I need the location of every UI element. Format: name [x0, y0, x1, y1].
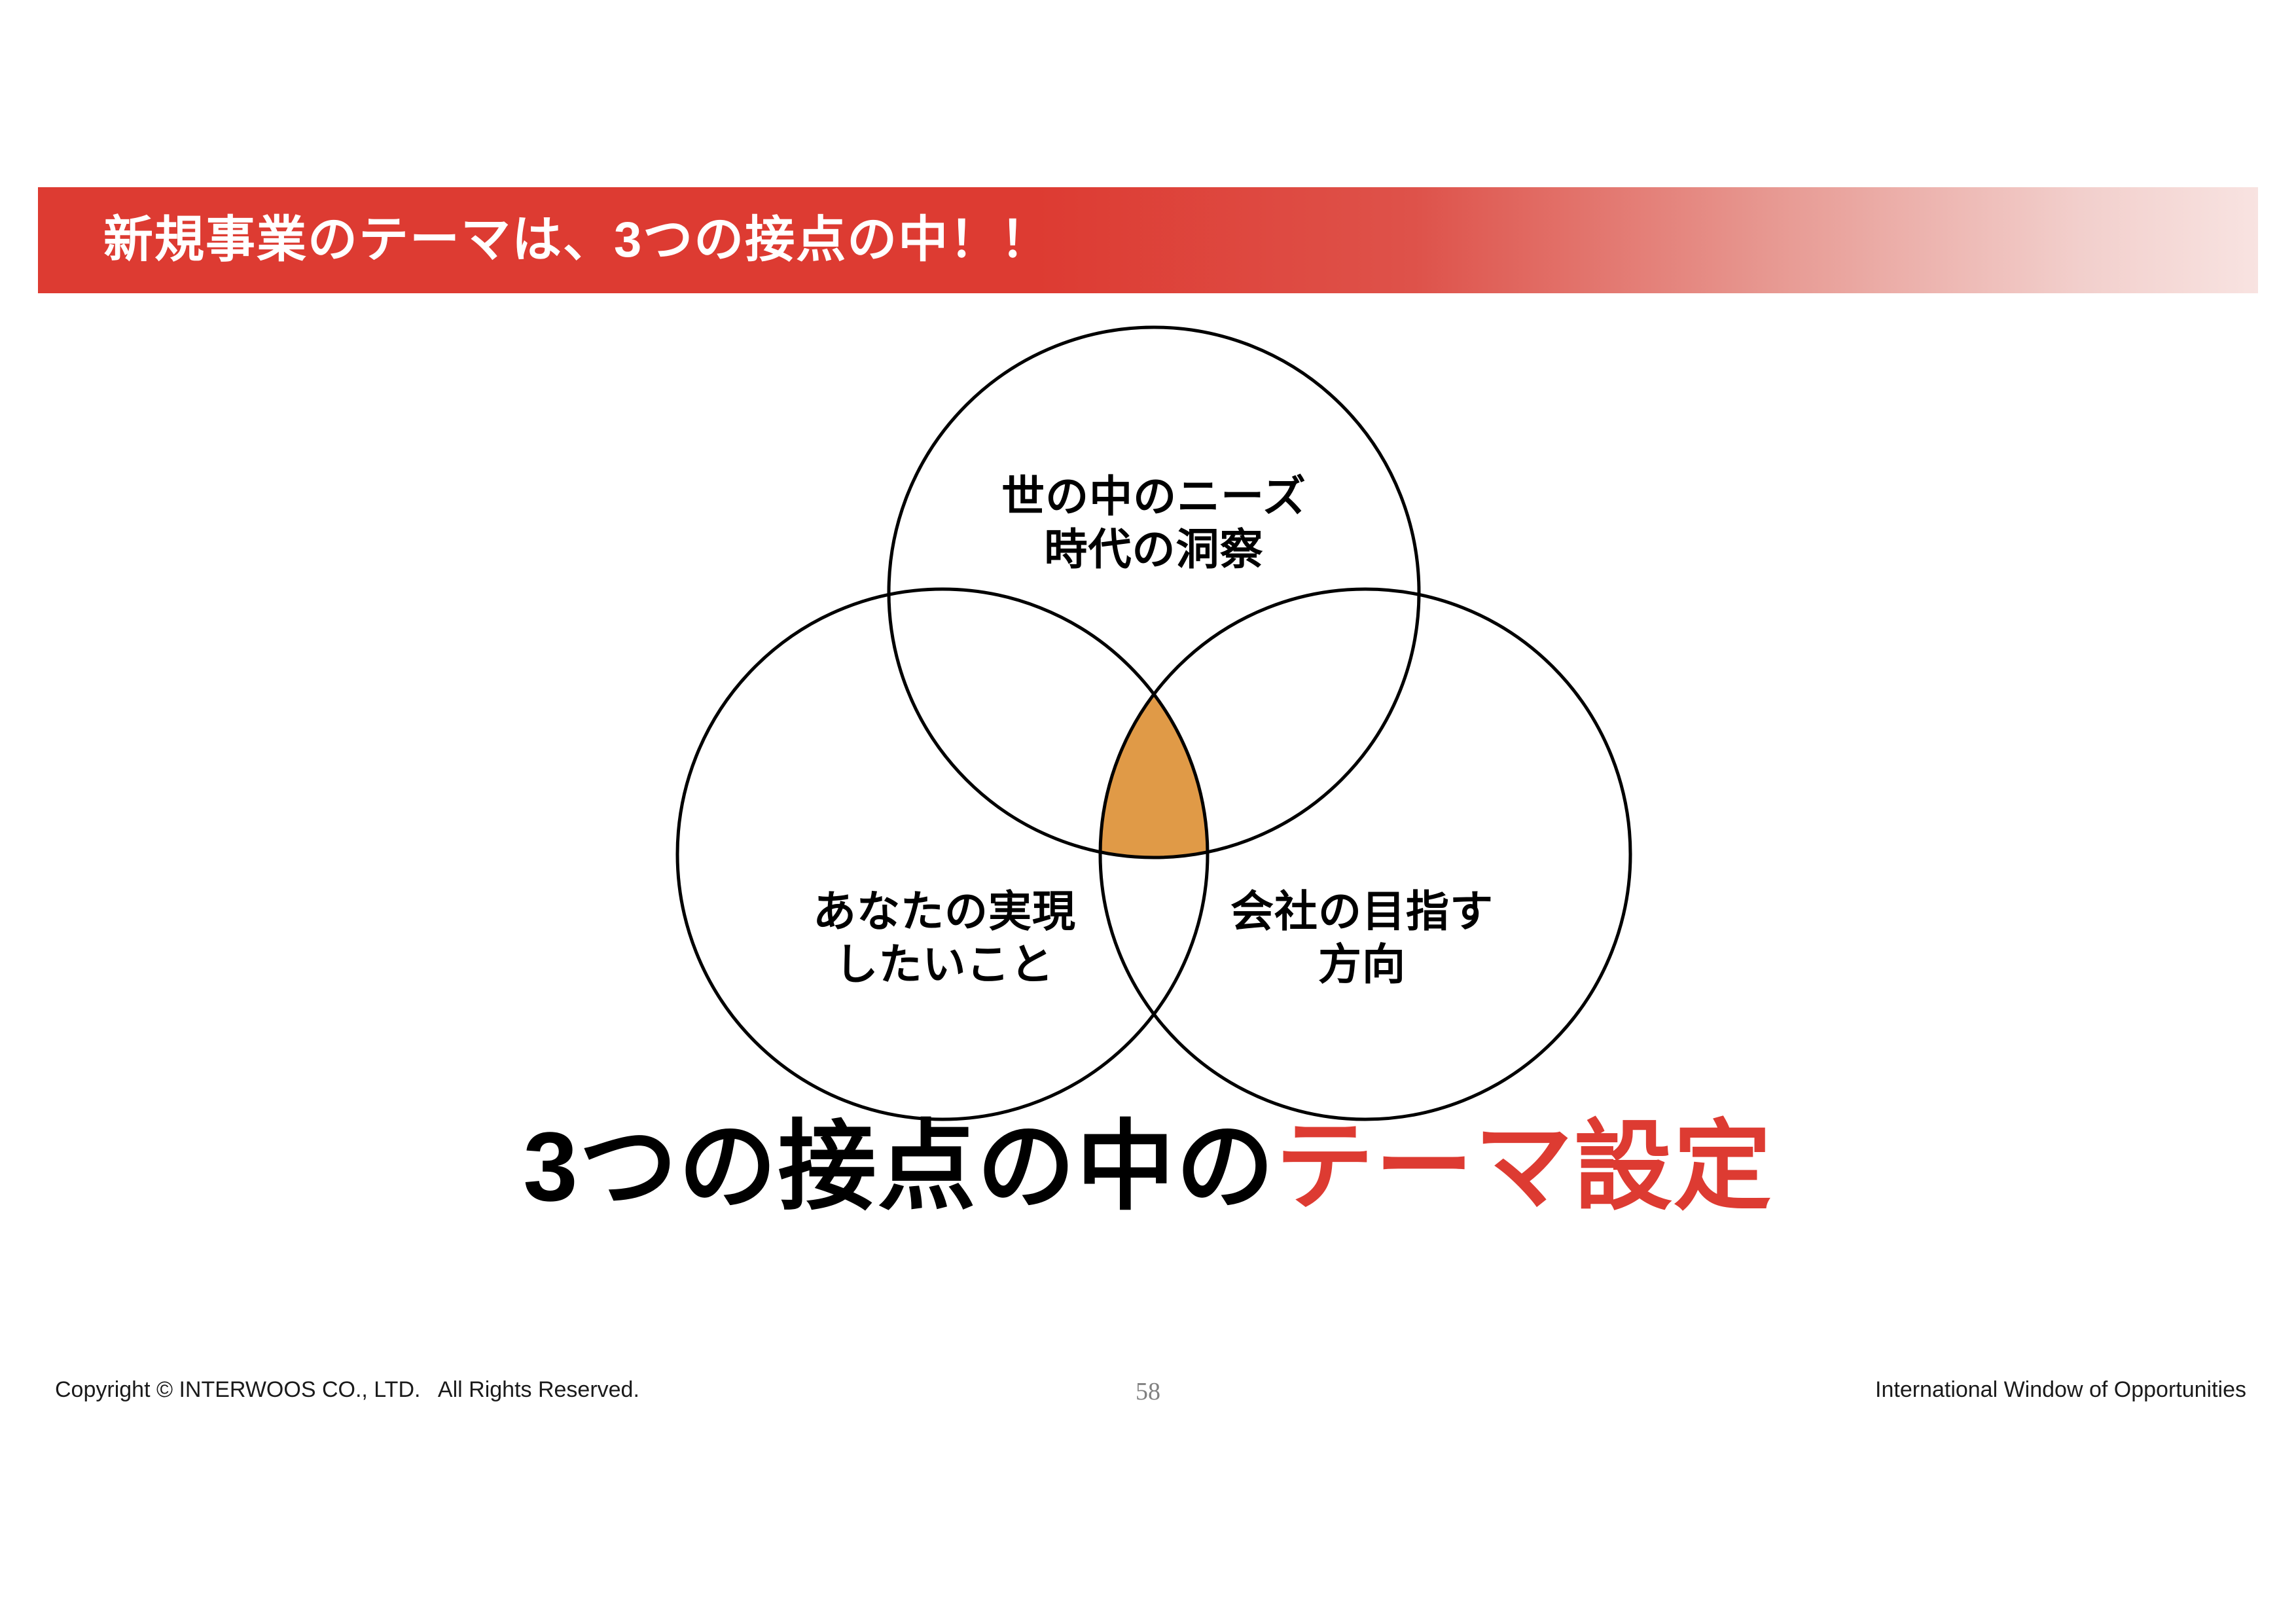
footer-tagline: International Window of Opportunities — [1875, 1377, 2246, 1403]
slide-canvas: 新規事業のテーマは、3つの接点の中！！ 世の — [0, 0, 2296, 1624]
banner-title: 新規事業のテーマは、3つの接点の中！！ — [103, 215, 1051, 265]
venn-circle-personal — [677, 589, 1208, 1119]
venn-intersection-highlight — [916, 524, 1374, 1113]
venn-circle-company — [1100, 589, 1630, 1119]
venn-label-needs: 世の中のニーズ 時代の洞察 — [887, 470, 1421, 575]
header-banner: 新規事業のテーマは、3つの接点の中！！ — [38, 187, 2258, 293]
venn-circle-needs — [889, 327, 1419, 857]
venn-label-company: 会社の目指す 方向 — [1095, 885, 1629, 990]
headline-red-part: テーマ設定 — [1276, 1111, 1773, 1221]
main-headline: 3つの接点の中のテーマ設定 — [0, 1113, 2296, 1221]
headline-black-part: 3つの接点の中の — [523, 1111, 1275, 1221]
